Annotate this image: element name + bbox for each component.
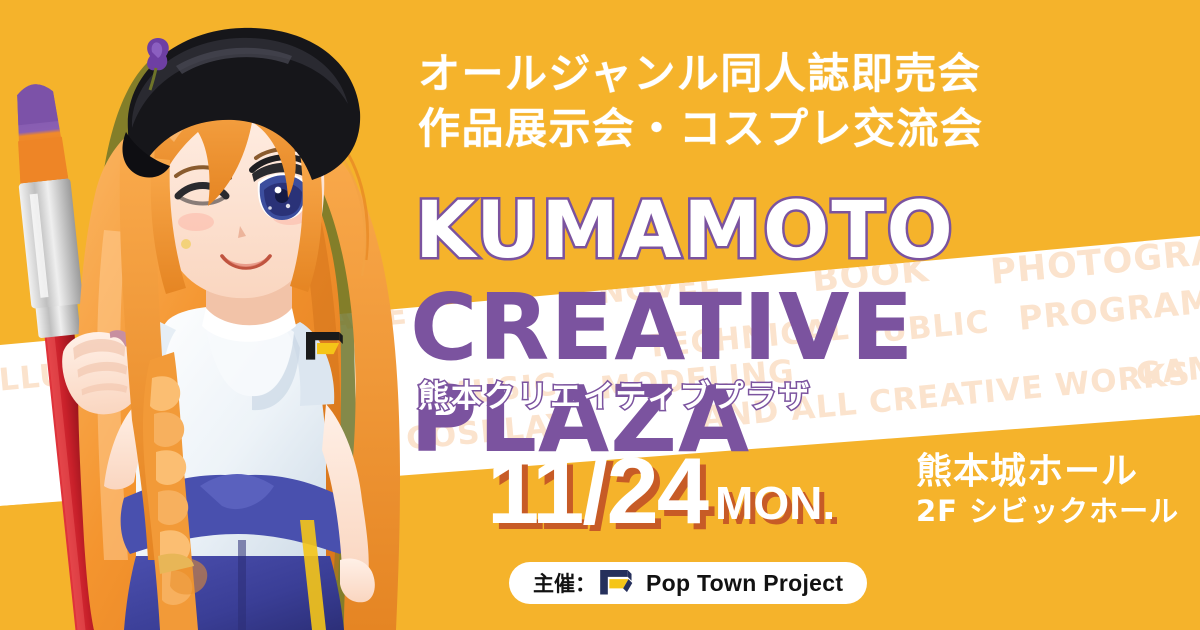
event-poster: ILLUSTRATIONCRAFTGAMENOVELBOOKPHOTOGRAPH… — [0, 0, 1200, 630]
organizer-label: 主催： — [533, 568, 596, 598]
headline-line-1: オールジャンル同人誌即売会 — [418, 46, 984, 101]
title-kumamoto: KUMAMOTO — [415, 192, 955, 270]
headline-line-2: 作品展示会・コスプレ交流会 — [418, 101, 984, 156]
date-day-of-week: MON. — [715, 480, 835, 526]
title-japanese-subtitle: 熊本クリエイティブプラザ — [418, 382, 812, 413]
venue-block: 熊本城ホール 2F シビックホール — [916, 452, 1179, 529]
organizer-badge: 主催： Pop Town Project — [509, 562, 867, 604]
event-headline: オールジャンル同人誌即売会 作品展示会・コスプレ交流会 — [418, 46, 984, 157]
pop-town-project-logo-icon — [600, 570, 634, 596]
mascot-character-illustration — [0, 0, 470, 630]
venue-name: 熊本城ホール — [916, 452, 1179, 492]
event-date: 11/24 MON. — [487, 448, 835, 534]
date-value: 11/24 — [487, 448, 707, 534]
venue-floor: 2F シビックホール — [916, 494, 1179, 529]
organizer-name: Pop Town Project — [646, 570, 843, 597]
